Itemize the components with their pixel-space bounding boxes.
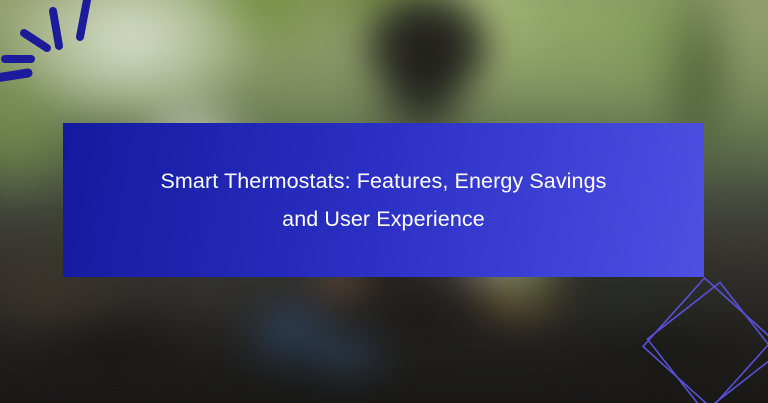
rotated-squares-icon	[632, 271, 768, 403]
rotated-square-1	[643, 278, 768, 403]
title-banner: Smart Thermostats: Features, Energy Savi…	[63, 123, 704, 277]
sparkle-stroke-5	[80, 0, 87, 37]
page-title: Smart Thermostats: Features, Energy Savi…	[160, 162, 606, 238]
hero-banner-image: Smart Thermostats: Features, Energy Savi…	[0, 0, 768, 403]
sparkle-stroke-4	[53, 11, 59, 46]
sparkle-burst-icon	[0, 0, 110, 100]
sparkle-stroke-1	[0, 73, 28, 78]
sparkle-stroke-3	[24, 33, 47, 48]
rotated-square-2	[647, 282, 768, 403]
